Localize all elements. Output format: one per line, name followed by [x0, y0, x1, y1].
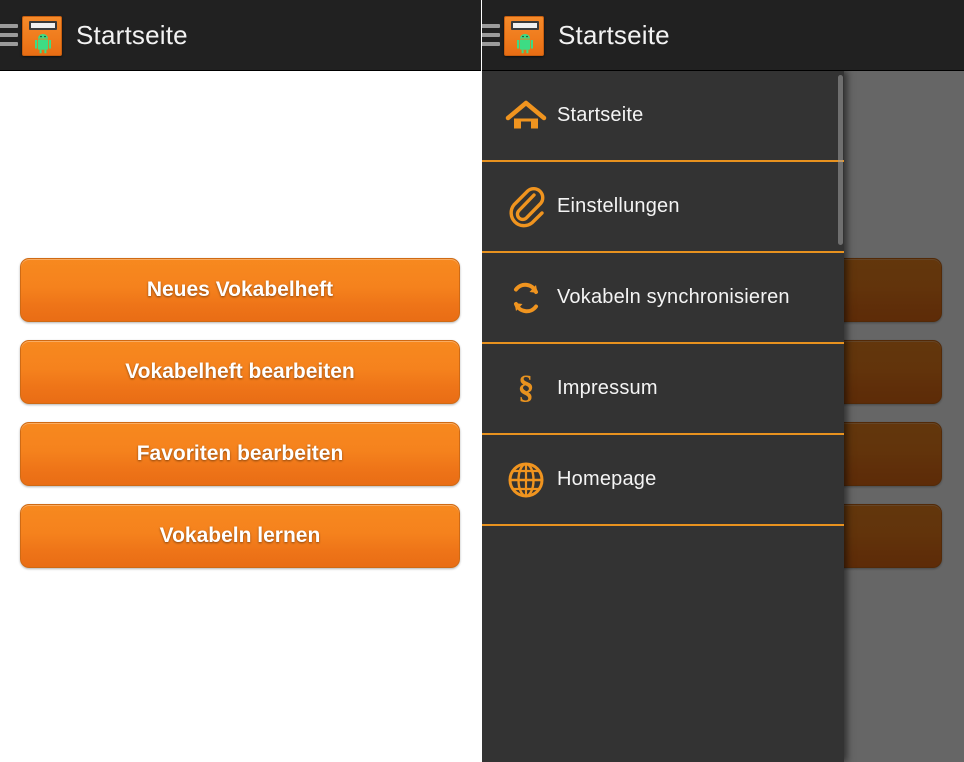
navigation-drawer: Startseite Einstellungen — [482, 71, 844, 762]
drawer-item-homepage[interactable]: Homepage — [482, 435, 844, 526]
hamburger-menu-icon[interactable] — [482, 22, 500, 48]
drawer-item-label: Impressum — [552, 377, 658, 400]
android-book-app-icon — [22, 16, 62, 56]
android-book-app-icon — [504, 16, 544, 56]
learn-vocabulary-button[interactable]: Vokabeln lernen — [20, 504, 460, 568]
panel-drawer-open: Neues Vokabelheft Vokabelheft bearbeiten… — [482, 0, 964, 762]
panel-home-closed: Startseite Neues Vokabelheft Vokabelheft… — [0, 0, 482, 762]
edit-vocabulary-book-button[interactable]: Vokabelheft bearbeiten — [20, 340, 460, 404]
globe-icon — [500, 457, 552, 503]
drawer-item-startseite[interactable]: Startseite — [482, 71, 844, 162]
new-vocabulary-book-button[interactable]: Neues Vokabelheft — [20, 258, 460, 322]
panel-divider — [481, 0, 482, 762]
drawer-item-label: Homepage — [552, 468, 656, 491]
hamburger-menu-icon[interactable] — [0, 22, 18, 48]
home-content-left: Neues Vokabelheft Vokabelheft bearbeiten… — [0, 71, 482, 762]
screenshot-root: Startseite Neues Vokabelheft Vokabelheft… — [0, 0, 964, 762]
app-icon-screen-bar — [511, 21, 539, 30]
android-robot-icon — [32, 33, 54, 54]
app-icon-screen-bar — [29, 21, 57, 30]
app-bar-left: Startseite — [0, 0, 482, 71]
app-bar-right: Startseite — [482, 0, 964, 71]
section-sign-glyph: § — [518, 372, 535, 405]
section-sign-icon: § — [500, 366, 552, 412]
drawer-scrollbar[interactable] — [838, 75, 843, 245]
drawer-item-vokabeln-synchronisieren[interactable]: Vokabeln synchronisieren — [482, 253, 844, 344]
page-title: Startseite — [76, 0, 188, 71]
drawer-item-label: Vokabeln synchronisieren — [552, 286, 790, 309]
drawer-item-list: Startseite Einstellungen — [482, 71, 844, 526]
page-title: Startseite — [558, 0, 670, 71]
drawer-item-label: Einstellungen — [552, 195, 680, 218]
paperclip-icon — [500, 184, 552, 230]
drawer-item-impressum[interactable]: § Impressum — [482, 344, 844, 435]
android-robot-icon — [514, 33, 536, 54]
home-button-stack-left: Neues Vokabelheft Vokabelheft bearbeiten… — [20, 258, 460, 568]
drawer-item-einstellungen[interactable]: Einstellungen — [482, 162, 844, 253]
home-icon — [500, 93, 552, 139]
drawer-item-label: Startseite — [552, 104, 643, 127]
edit-favorites-button[interactable]: Favoriten bearbeiten — [20, 422, 460, 486]
sync-refresh-icon — [500, 275, 552, 321]
